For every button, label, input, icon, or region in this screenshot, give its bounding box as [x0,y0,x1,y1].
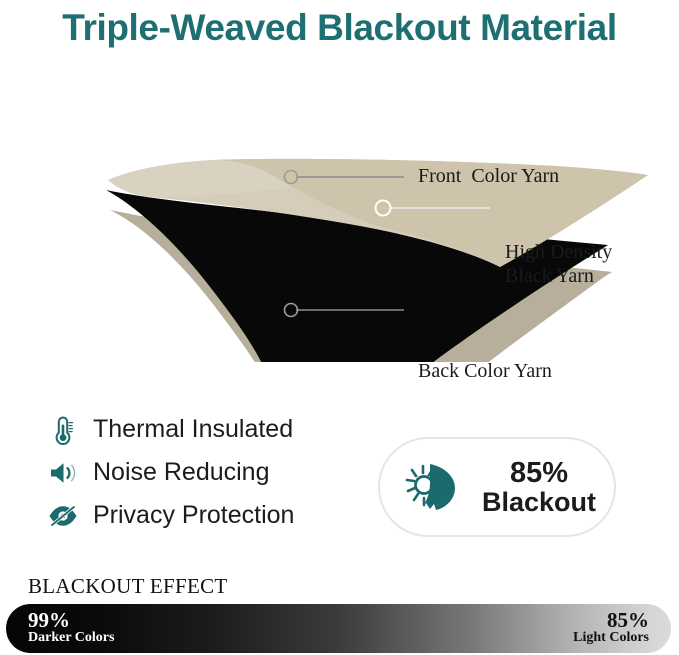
blackout-effect-right-caption: Light Colors [573,631,649,646]
blackout-effect-right: 85% Light Colors [573,609,649,646]
callout-label-front-color-yarn: Front Color Yarn [418,165,559,189]
feature-label-privacy-protection: Privacy Protection [93,501,294,530]
blackout-effect-right-percent: 85% [573,609,649,631]
fabric-layers-diagram: Front Color Yarn High Density Black Yarn… [0,62,679,362]
feature-list: Thermal Insulated Noise Reducing Privacy… [44,408,364,537]
blackout-effect-gradient-bar: 99% Darker Colors 85% Light Colors [6,604,671,653]
feature-label-thermal-insulated: Thermal Insulated [93,415,293,444]
blackout-effect-heading: BLACKOUT EFFECT [28,574,228,599]
blackout-effect-left: 99% Darker Colors [28,609,114,646]
callout-label-high-density-black-yarn: High Density Black Yarn [505,241,612,288]
page-title: Triple-Weaved Blackout Material [0,0,679,56]
callout-label-back-color-yarn: Back Color Yarn [418,360,552,384]
thermometer-icon [44,413,82,447]
blackout-rating-badge: 85% Blackout [378,437,616,537]
sun-blocked-by-curtain-icon [388,455,474,519]
blackout-word: Blackout [474,488,604,516]
blackout-percent: 85% [474,458,604,488]
feature-item-thermal-insulated: Thermal Insulated [44,408,364,451]
blackout-rating-text: 85% Blackout [474,458,614,516]
feature-item-noise-reducing: Noise Reducing [44,451,364,494]
blackout-effect-left-caption: Darker Colors [28,631,114,646]
blackout-effect-left-percent: 99% [28,609,114,631]
eye-slash-icon [44,499,82,533]
feature-label-noise-reducing: Noise Reducing [93,458,270,487]
feature-item-privacy-protection: Privacy Protection [44,494,364,537]
speaker-sound-icon [44,456,82,490]
